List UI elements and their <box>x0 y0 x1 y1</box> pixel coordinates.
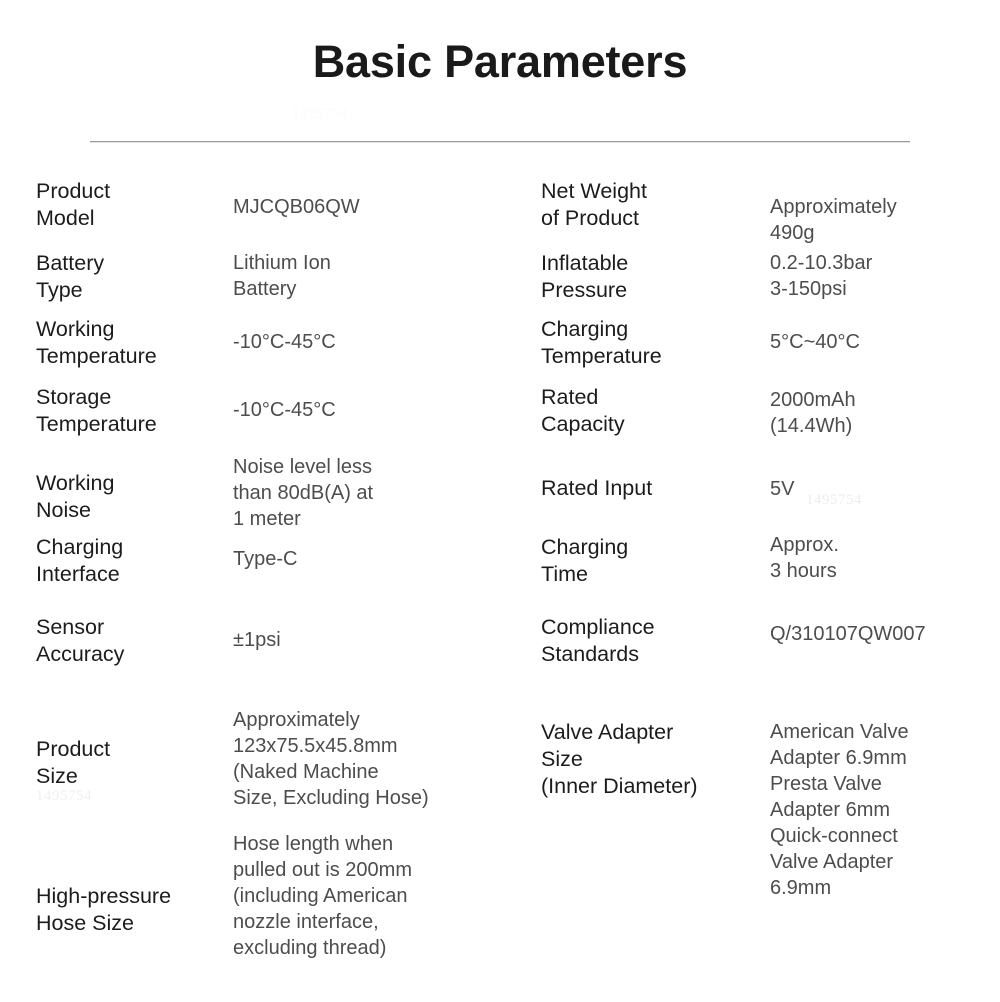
table-row: Working Temperature -10°C-45°C Charging … <box>0 316 1000 384</box>
spec-label-storage-temperature: Storage Temperature <box>36 384 226 438</box>
table-row: Product Size Approximately 123x75.5x45.8… <box>0 698 1000 831</box>
header-divider <box>90 141 910 142</box>
spec-label-net-weight: Net Weight of Product <box>541 178 766 232</box>
spec-value-sensor-accuracy: ±1psi <box>233 627 513 653</box>
table-row: Battery Type Lithium Ion Battery Inflata… <box>0 248 1000 316</box>
spec-value-inflatable-pressure: 0.2-10.3bar 3-150psi <box>770 250 985 302</box>
watermark-under-title: 1495754 <box>292 106 348 123</box>
specifications-table: Product Model MJCQB06QW Net Weight of Pr… <box>0 170 1000 971</box>
spec-value-storage-temperature: -10°C-45°C <box>233 397 513 423</box>
spec-value-net-weight: Approximately 490g <box>770 194 985 246</box>
spec-value-compliance-standards: Q/310107QW007 <box>770 621 985 647</box>
spec-value-rated-capacity: 2000mAh (14.4Wh) <box>770 387 985 439</box>
spec-value-working-noise: Noise level less than 80dB(A) at 1 meter <box>233 454 513 532</box>
spec-value-charging-time: Approx. 3 hours <box>770 532 985 584</box>
table-row: Charging Interface Type-C Charging Time … <box>0 532 1000 614</box>
spec-label-inflatable-pressure: Inflatable Pressure <box>541 250 766 304</box>
spec-label-rated-input: Rated Input <box>541 475 766 502</box>
table-row: High-pressure Hose Size Hose length when… <box>0 831 1000 971</box>
spec-value-working-temperature: -10°C-45°C <box>233 329 513 355</box>
spec-label-valve-adapter-size: Valve Adapter Size (Inner Diameter) <box>541 719 766 800</box>
spec-label-battery-type: Battery Type <box>36 250 226 304</box>
spec-label-product-model: Product Model <box>36 178 226 232</box>
spec-label-high-pressure-hose-size: High-pressure Hose Size <box>36 883 226 937</box>
table-row: Product Model MJCQB06QW Net Weight of Pr… <box>0 170 1000 248</box>
spec-value-product-model: MJCQB06QW <box>233 194 513 220</box>
spec-label-rated-capacity: Rated Capacity <box>541 384 766 438</box>
spec-label-charging-temperature: Charging Temperature <box>541 316 766 370</box>
spec-label-charging-interface: Charging Interface <box>36 534 226 588</box>
spec-label-charging-time: Charging Time <box>541 534 766 588</box>
table-row: Storage Temperature -10°C-45°C Rated Cap… <box>0 384 1000 454</box>
spec-value-charging-temperature: 5°C~40°C <box>770 329 985 355</box>
spec-value-high-pressure-hose-size: Hose length when pulled out is 200mm (in… <box>233 831 513 961</box>
spec-sheet-page: Basic Parameters 1495754 Product Model M… <box>0 0 1000 1002</box>
table-row: Sensor Accuracy ±1psi Compliance Standar… <box>0 614 1000 698</box>
spec-label-product-size: Product Size <box>36 736 226 790</box>
watermark-product-size: 1495754 <box>36 788 92 805</box>
spec-value-battery-type: Lithium Ion Battery <box>233 250 513 302</box>
watermark-rated-input: 1495754 <box>806 492 862 509</box>
spec-value-rated-input: 5V <box>770 476 985 502</box>
spec-value-product-size: Approximately 123x75.5x45.8mm (Naked Mac… <box>233 707 513 811</box>
spec-value-charging-interface: Type-C <box>233 546 513 572</box>
spec-label-compliance-standards: Compliance Standards <box>541 614 766 668</box>
spec-label-working-noise: Working Noise <box>36 470 226 524</box>
page-title: Basic Parameters <box>0 38 1000 85</box>
spec-label-sensor-accuracy: Sensor Accuracy <box>36 614 226 668</box>
spec-label-working-temperature: Working Temperature <box>36 316 226 370</box>
